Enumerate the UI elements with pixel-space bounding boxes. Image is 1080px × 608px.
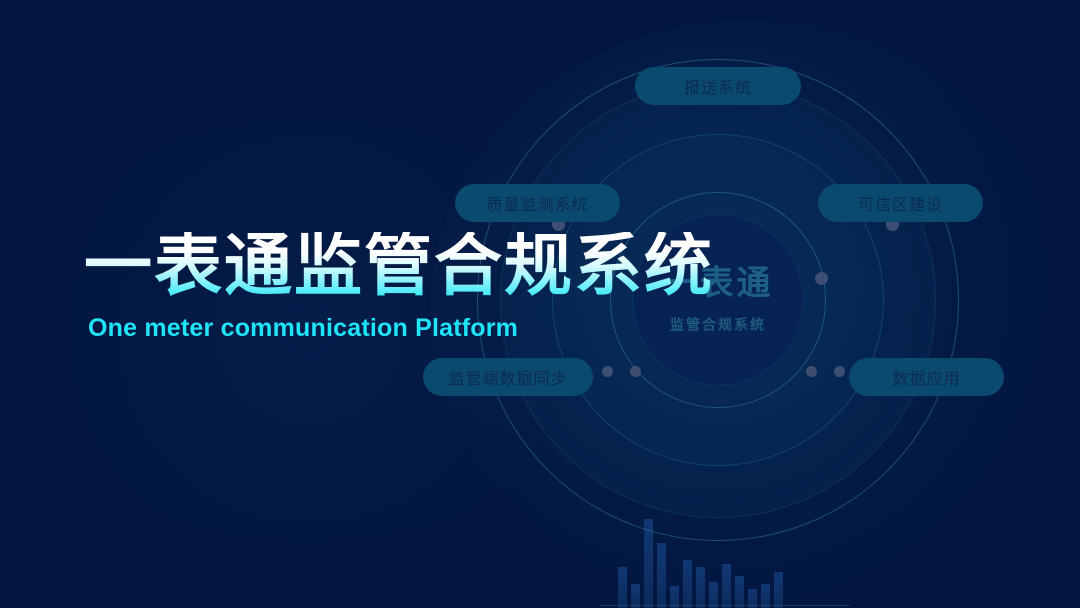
- bar: [644, 519, 653, 608]
- bar: [696, 567, 705, 608]
- bar: [774, 572, 783, 608]
- bar: [683, 560, 692, 608]
- slide-canvas: 一表通 监管合规系统 报送系统 质量监测系统 可信区建设 监管端数据同步 数据应…: [0, 0, 1080, 608]
- ring-inner-circle: [610, 192, 826, 408]
- center-disc: [632, 214, 804, 386]
- center-subtitle: 监管合规系统: [618, 315, 818, 335]
- ring-outer-circle: [477, 59, 959, 541]
- decorative-bar-chart: [618, 488, 828, 608]
- bar-chart-baseline: [600, 605, 850, 606]
- node-pill-trust[interactable]: 可信区建设: [818, 184, 983, 222]
- headline-block: 一表通监管合规系统 One meter communication Platfo…: [84, 232, 714, 343]
- bar: [735, 576, 744, 608]
- background-glow-left: [0, 120, 620, 540]
- background-glow: [430, 20, 1070, 600]
- bar: [657, 543, 666, 608]
- center-label: 一表通 监管合规系统: [618, 265, 818, 334]
- connector-dot-ring-right: [815, 272, 828, 285]
- connector-dot-sync-b: [630, 366, 641, 377]
- node-pill-quality[interactable]: 质量监测系统: [455, 184, 620, 222]
- connector-dot-data-a: [806, 366, 817, 377]
- page-subtitle: One meter communication Platform: [88, 314, 714, 343]
- node-pill-sync[interactable]: 监管端数据同步: [423, 358, 593, 396]
- center-title: 一表通: [618, 265, 818, 302]
- connector-dot-data-b: [834, 366, 845, 377]
- page-title: 一表通监管合规系统: [84, 232, 714, 300]
- bar: [722, 564, 731, 608]
- bar: [618, 567, 627, 608]
- connector-dot-sync-a: [602, 366, 613, 377]
- node-pill-report[interactable]: 报送系统: [635, 67, 801, 105]
- node-pill-data[interactable]: 数据应用: [849, 358, 1004, 396]
- ring-outer-fill: [500, 82, 936, 518]
